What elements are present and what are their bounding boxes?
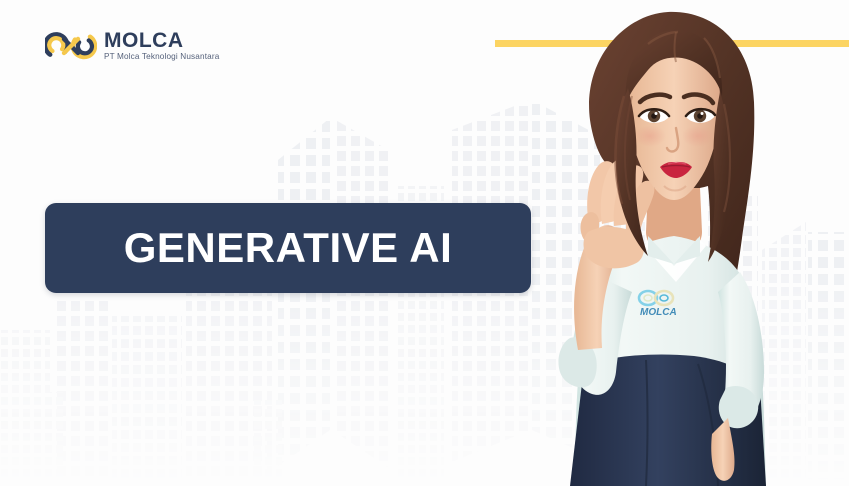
molca-infinity-logo-icon bbox=[45, 30, 97, 62]
presenter-avatar: MOLCA bbox=[498, 0, 849, 486]
page-title: GENERATIVE AI bbox=[124, 224, 453, 272]
brand-logo: MOLCA PT Molca Teknologi Nusantara bbox=[45, 30, 219, 62]
logo-tagline: PT Molca Teknologi Nusantara bbox=[104, 53, 219, 61]
slide-canvas: MOLCA PT Molca Teknologi Nusantara GENER… bbox=[0, 0, 849, 486]
title-banner: GENERATIVE AI bbox=[45, 203, 531, 293]
svg-text:MOLCA: MOLCA bbox=[640, 307, 677, 318]
logo-wordmark: MOLCA bbox=[104, 30, 219, 51]
